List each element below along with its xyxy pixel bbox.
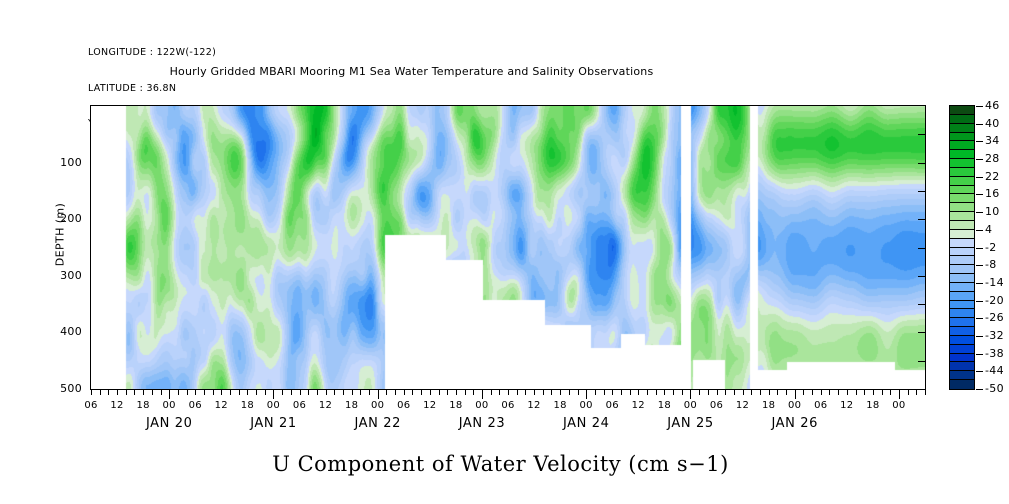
x-axis-minor-tick: [230, 390, 231, 395]
x-axis-minor-tick: [439, 390, 440, 395]
colorbar-band: [950, 221, 974, 230]
colorbar-band: [950, 115, 974, 124]
x-axis-minor-tick: [656, 390, 657, 395]
x-axis-minor-tick: [734, 390, 735, 395]
colorbar-tick-label: -2: [985, 241, 997, 254]
colorbar-band: [950, 150, 974, 159]
x-axis-minor-tick: [343, 390, 344, 395]
x-axis-minor-tick: [178, 390, 179, 395]
colorbar-tick-label: 10: [985, 205, 1000, 218]
colorbar-tick-label: 16: [985, 187, 1000, 200]
x-axis-major-tick: [690, 390, 691, 399]
x-axis-minor-tick: [882, 390, 883, 395]
colorbar-band: [950, 345, 974, 354]
x-axis-minor-tick: [612, 390, 613, 395]
x-axis-minor-tick: [91, 390, 92, 395]
y-axis-label: DEPTH (m): [54, 165, 67, 305]
colorbar-band: [950, 354, 974, 363]
x-axis-day-label: JAN 26: [735, 416, 855, 431]
x-axis-minor-tick: [673, 390, 674, 395]
x-axis-minor-tick: [621, 390, 622, 395]
colorbar-band: [950, 274, 974, 283]
x-axis-minor-tick: [751, 390, 752, 395]
x-axis-minor-tick: [517, 390, 518, 395]
colorbar-tick-label: -44: [985, 364, 1004, 377]
colorbar-tick: [976, 212, 983, 213]
colorbar-band: [950, 141, 974, 150]
x-axis-minor-tick: [491, 390, 492, 395]
x-axis-minor-tick: [317, 390, 318, 395]
x-axis-minor-tick: [256, 390, 257, 395]
colorbar-tick: [976, 106, 983, 107]
y-axis-tick-label: 400: [42, 325, 82, 338]
x-axis-minor-tick: [508, 390, 509, 395]
x-axis-minor-tick: [604, 390, 605, 395]
x-axis-minor-tick: [369, 390, 370, 395]
y-axis-tick: [918, 304, 925, 305]
colorbar-band: [950, 203, 974, 212]
colorbar-tick-label: 4: [985, 223, 992, 236]
x-axis-minor-tick: [352, 390, 353, 395]
colorbar-band: [950, 168, 974, 177]
y-axis-tick: [918, 361, 925, 362]
x-axis-minor-tick: [412, 390, 413, 395]
y-axis-tick: [918, 389, 925, 390]
x-axis-minor-tick: [560, 390, 561, 395]
colorbar-band: [950, 318, 974, 327]
x-axis-minor-tick: [326, 390, 327, 395]
colorbar-band: [950, 239, 974, 248]
x-axis-minor-tick: [187, 390, 188, 395]
figure-caption-text: U Component of Water Velocity (cm s−1): [272, 452, 729, 476]
colorbar-tick: [976, 283, 983, 284]
x-axis-minor-tick: [534, 390, 535, 395]
x-axis-day-label: JAN 23: [422, 416, 542, 431]
x-axis-minor-tick: [708, 390, 709, 395]
x-axis-minor-tick: [777, 390, 778, 395]
colorbar-tick: [976, 230, 983, 231]
colorbar-band: [950, 327, 974, 336]
colorbar-band: [950, 186, 974, 195]
colorbar-band: [950, 256, 974, 265]
colorbar-band: [950, 230, 974, 239]
x-axis-minor-tick: [430, 390, 431, 395]
colorbar-tick: [976, 124, 983, 125]
colorbar-tick-label: -50: [985, 382, 1004, 395]
x-axis-minor-tick: [743, 390, 744, 395]
x-axis-minor-tick: [760, 390, 761, 395]
colorbar-band: [950, 159, 974, 168]
y-axis-tick: [918, 276, 925, 277]
colorbar-tick: [976, 389, 983, 390]
y-axis-tick: [918, 248, 925, 249]
x-axis-minor-tick: [812, 390, 813, 395]
x-axis-minor-tick: [821, 390, 822, 395]
x-axis-minor-tick: [647, 390, 648, 395]
y-axis-tick: [918, 332, 925, 333]
colorbar-band: [950, 133, 974, 142]
colorbar-tick: [976, 301, 983, 302]
x-axis-minor-tick: [395, 390, 396, 395]
colorbar-tick: [976, 248, 983, 249]
x-axis-minor-tick: [630, 390, 631, 395]
x-axis-day-label: JAN 20: [109, 416, 229, 431]
x-axis-minor-tick: [699, 390, 700, 395]
colorbar-tick: [976, 159, 983, 160]
x-axis-major-tick: [378, 390, 379, 399]
x-axis-minor-tick: [117, 390, 118, 395]
x-axis-minor-tick: [100, 390, 101, 395]
x-axis-minor-tick: [864, 390, 865, 395]
colorbar-band: [950, 124, 974, 133]
x-axis-minor-tick: [725, 390, 726, 395]
x-axis-minor-tick: [847, 390, 848, 395]
x-axis-minor-tick: [282, 390, 283, 395]
colorbar-band: [950, 362, 974, 371]
x-axis-minor-tick: [213, 390, 214, 395]
velocity-heatmap-canvas: [91, 106, 925, 389]
figure-caption: U Component of Water Velocity (cm s−1): [0, 452, 1009, 476]
y-axis-tick-label: 500: [42, 382, 82, 395]
x-axis-minor-tick: [308, 390, 309, 395]
colorbar-tick-label: -38: [985, 347, 1004, 360]
colorbar-band: [950, 248, 974, 257]
x-axis-minor-tick: [134, 390, 135, 395]
x-axis-minor-tick: [161, 390, 162, 395]
colorbar-tick-label: 22: [985, 170, 1000, 183]
x-axis-minor-tick: [143, 390, 144, 395]
x-axis-minor-tick: [551, 390, 552, 395]
colorbar-tick: [976, 265, 983, 266]
x-axis-minor-tick: [829, 390, 830, 395]
x-axis-minor-tick: [421, 390, 422, 395]
x-axis-day-label: JAN 22: [318, 416, 438, 431]
x-axis-minor-tick: [578, 390, 579, 395]
x-axis-minor-tick: [873, 390, 874, 395]
x-axis-minor-tick: [717, 390, 718, 395]
colorbar-band: [950, 265, 974, 274]
colorbar-tick-label: 28: [985, 152, 1000, 165]
colorbar-band: [950, 301, 974, 310]
x-axis-minor-tick: [838, 390, 839, 395]
colorbar-tick-label: -14: [985, 276, 1004, 289]
colorbar-tick-label: 40: [985, 117, 1000, 130]
x-axis-minor-tick: [108, 390, 109, 395]
x-axis-major-tick: [169, 390, 170, 399]
x-axis-minor-tick: [890, 390, 891, 395]
x-axis-minor-tick: [473, 390, 474, 395]
x-axis-minor-tick: [465, 390, 466, 395]
colorbar-band: [950, 309, 974, 318]
colorbar: [949, 105, 975, 390]
x-axis-minor-tick: [569, 390, 570, 395]
colorbar-tick: [976, 177, 983, 178]
colorbar-band: [950, 106, 974, 115]
x-axis-minor-tick: [126, 390, 127, 395]
x-axis-minor-tick: [334, 390, 335, 395]
colorbar-tick-label: 34: [985, 134, 1000, 147]
colorbar-tick-label: 46: [985, 99, 1000, 112]
x-axis-major-tick: [273, 390, 274, 399]
colorbar-tick-label: -26: [985, 311, 1004, 324]
colorbar-band: [950, 177, 974, 186]
y-axis-tick: [918, 163, 925, 164]
x-axis-minor-tick: [221, 390, 222, 395]
plot-area: [90, 105, 926, 390]
x-axis-minor-tick: [386, 390, 387, 395]
x-axis-minor-tick: [447, 390, 448, 395]
plot-title: Hourly Gridded MBARI Mooring M1 Sea Wate…: [0, 65, 1009, 78]
x-axis-minor-tick: [543, 390, 544, 395]
x-axis-minor-tick: [204, 390, 205, 395]
colorbar-band: [950, 336, 974, 345]
x-axis-minor-tick: [664, 390, 665, 395]
colorbar-band: [950, 380, 974, 389]
y-axis-tick: [918, 134, 925, 135]
x-axis-minor-tick: [525, 390, 526, 395]
colorbar-band: [950, 212, 974, 221]
colorbar-band: [950, 292, 974, 301]
colorbar-tick-label: -32: [985, 329, 1004, 342]
colorbar-band: [950, 194, 974, 203]
colorbar-band: [950, 283, 974, 292]
colorbar-tick-label: -8: [985, 258, 997, 271]
x-axis-minor-tick: [239, 390, 240, 395]
colorbar-tick: [976, 371, 983, 372]
x-axis-minor-tick: [638, 390, 639, 395]
x-axis-minor-tick: [916, 390, 917, 395]
colorbar-tick: [976, 354, 983, 355]
colorbar-tick: [976, 336, 983, 337]
x-axis-minor-tick: [404, 390, 405, 395]
x-axis-minor-tick: [265, 390, 266, 395]
colorbar-tick: [976, 141, 983, 142]
x-axis-day-label: JAN 25: [630, 416, 750, 431]
x-axis-major-tick: [899, 390, 900, 399]
x-axis-minor-tick: [499, 390, 500, 395]
x-axis-major-tick: [482, 390, 483, 399]
x-axis-minor-tick: [769, 390, 770, 395]
x-axis-minor-tick: [291, 390, 292, 395]
y-axis-tick: [918, 191, 925, 192]
x-axis-major-tick: [586, 390, 587, 399]
x-axis-day-label: JAN 24: [526, 416, 646, 431]
colorbar-tick-label: -20: [985, 294, 1004, 307]
x-axis-minor-tick: [803, 390, 804, 395]
x-axis-minor-tick: [195, 390, 196, 395]
longitude-text: LONGITUDE : 122W(-122): [88, 47, 216, 59]
x-axis-minor-tick: [595, 390, 596, 395]
y-axis-tick: [918, 219, 925, 220]
x-axis-minor-tick: [682, 390, 683, 395]
x-axis-minor-tick: [786, 390, 787, 395]
x-axis-minor-tick: [908, 390, 909, 395]
x-axis-minor-tick: [856, 390, 857, 395]
plot-title-text: Hourly Gridded MBARI Mooring M1 Sea Wate…: [170, 65, 654, 78]
x-axis-minor-tick: [152, 390, 153, 395]
latitude-text: LATITUDE : 36.8N: [88, 83, 216, 95]
x-axis-hour-label: 00: [884, 400, 914, 411]
x-axis-minor-tick: [300, 390, 301, 395]
colorbar-band: [950, 371, 974, 380]
x-axis-minor-tick: [456, 390, 457, 395]
colorbar-tick: [976, 194, 983, 195]
x-axis-minor-tick: [360, 390, 361, 395]
x-axis-minor-tick: [925, 390, 926, 395]
colorbar-tick: [976, 318, 983, 319]
x-axis-major-tick: [795, 390, 796, 399]
x-axis-minor-tick: [247, 390, 248, 395]
x-axis-day-label: JAN 21: [213, 416, 333, 431]
